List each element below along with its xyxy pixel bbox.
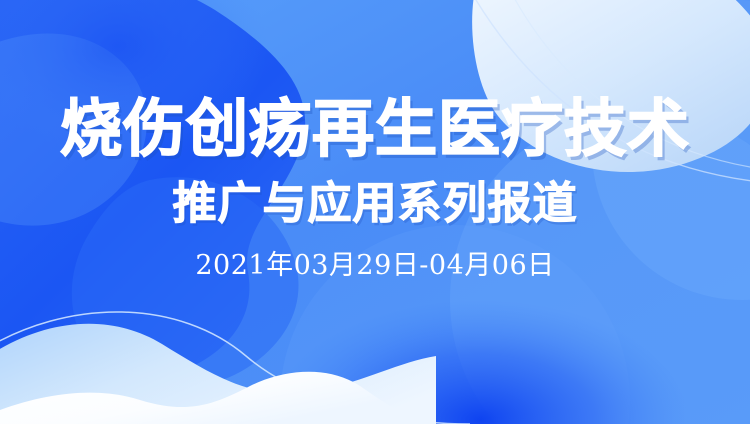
page-title: 烧伤创疡再生医疗技术 bbox=[60, 98, 690, 160]
page-subtitle: 推广与应用系列报道 bbox=[173, 182, 578, 226]
promo-banner: 烧伤创疡再生医疗技术 推广与应用系列报道 2021年03月29日-04月06日 bbox=[0, 0, 750, 424]
banner-text-stack: 烧伤创疡再生医疗技术 推广与应用系列报道 2021年03月29日-04月06日 bbox=[0, 0, 750, 424]
date-range-label: 2021年03月29日-04月06日 bbox=[195, 252, 554, 279]
